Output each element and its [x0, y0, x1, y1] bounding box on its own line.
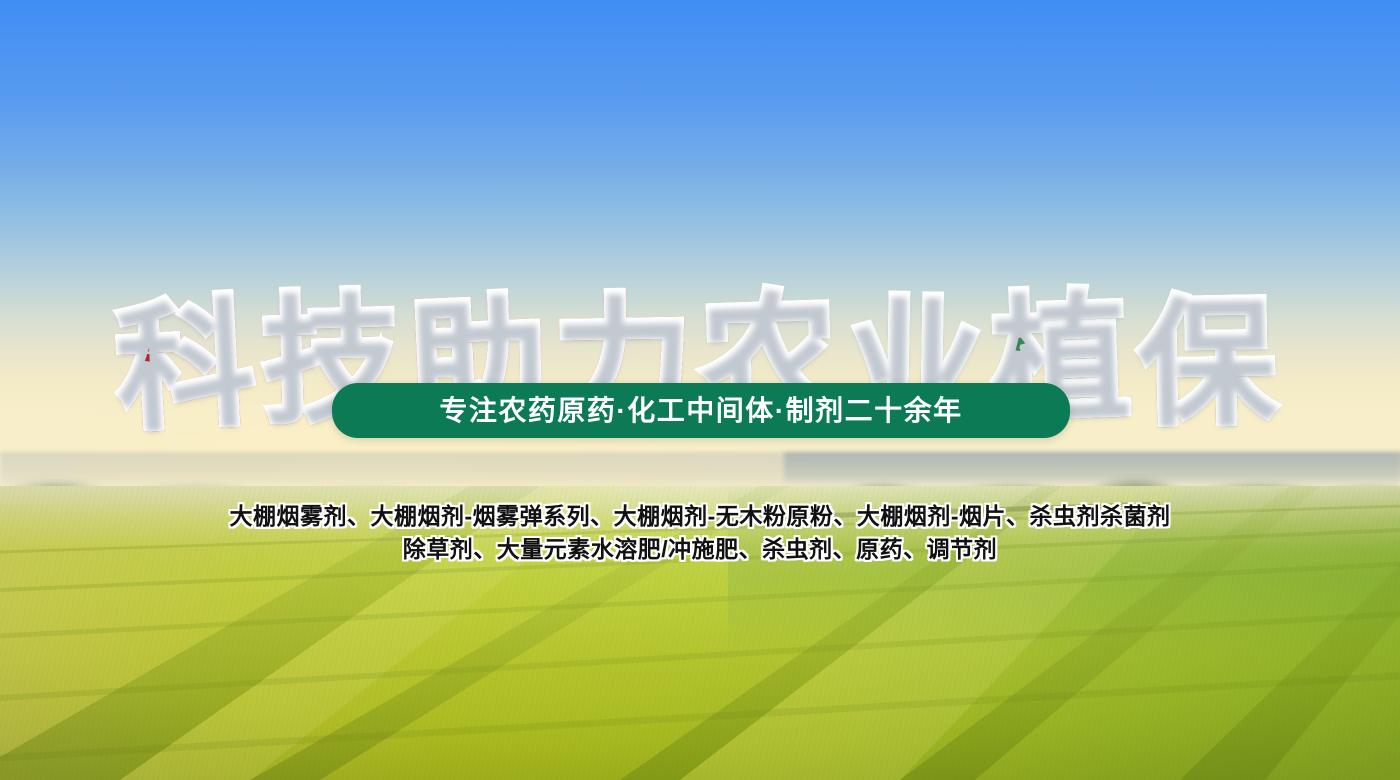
product-list: 大棚烟雾剂、大棚烟剂-烟雾弹系列、大棚烟剂-无木粉原粉、大棚烟剂-烟片、杀虫剂杀…	[0, 500, 1400, 566]
hero-banner: 科技助力农业植保 专注农药原药·化工中间体·制剂二十余年 大棚烟雾剂、大棚烟剂-…	[0, 0, 1400, 780]
product-line-2: 除草剂、大量元素水溶肥/冲施肥、杀虫剂、原药、调节剂	[0, 533, 1400, 566]
title-char-0: 科	[113, 293, 266, 438]
subtitle-badge: 专注农药原药·化工中间体·制剂二十余年	[332, 383, 1070, 438]
title-char-7: 保	[1137, 292, 1285, 433]
subtitle-badge-text: 专注农药原药·化工中间体·制剂二十余年	[439, 397, 962, 425]
product-line-1: 大棚烟雾剂、大棚烟剂-烟雾弹系列、大棚烟剂-无木粉原粉、大棚烟剂-烟片、杀虫剂杀…	[0, 500, 1400, 533]
